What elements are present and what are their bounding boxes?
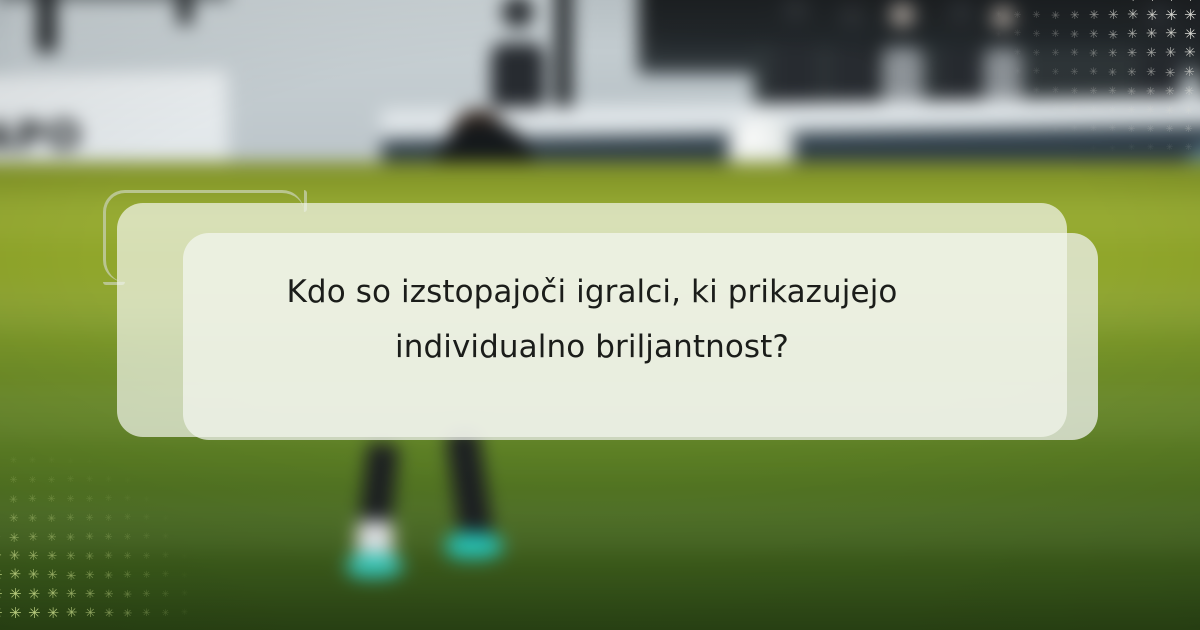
spectator (773, 0, 819, 109)
player-boot (347, 553, 403, 579)
spectator (939, 0, 983, 113)
question-card: Kdo so izstopajoči igralci, ki prikazuje… (117, 203, 1067, 437)
stadium-rail-upper-right (664, 35, 1200, 46)
stadium-post (178, 0, 192, 24)
player-boot (446, 532, 502, 559)
share-card-canvas: A SAPO ZA SIEMPRE TU LADO (0, 0, 1200, 630)
spectator (491, 0, 545, 109)
banner-left-text: A SAPO (0, 116, 83, 160)
spectator (882, 3, 923, 110)
stadium-post (37, 0, 56, 52)
spectator (1138, 3, 1182, 110)
spectator (830, 3, 874, 110)
spectator (984, 6, 1022, 105)
question-headline: Kdo so izstopajoči igralci, ki prikazuje… (222, 265, 963, 375)
stadium-post (555, 0, 572, 109)
